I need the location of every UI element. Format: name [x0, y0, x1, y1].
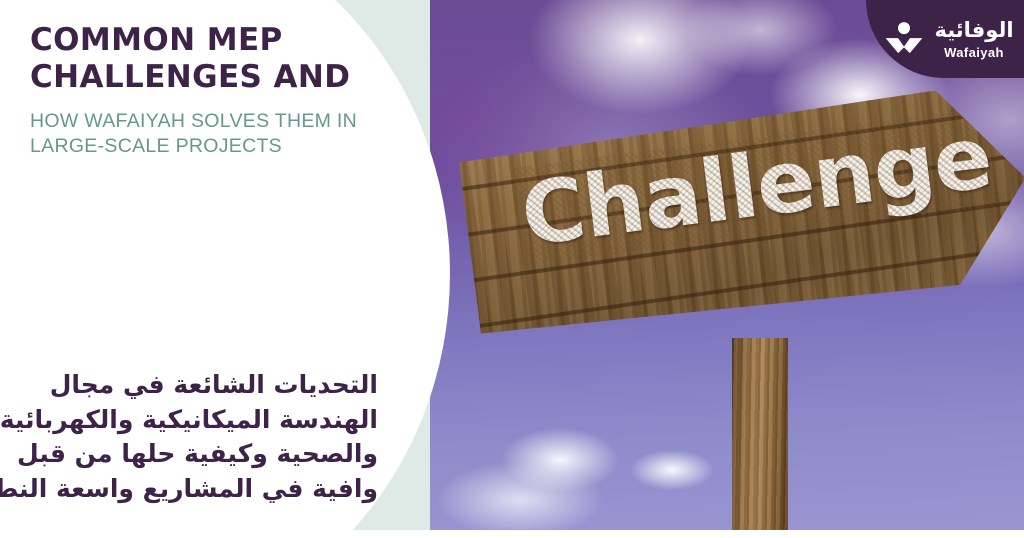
- wafaiyah-figure-icon: [884, 19, 924, 59]
- subhead-line-1: HOW WAFAIYAH SOLVES THEM IN: [30, 110, 357, 132]
- arabic-caption-line: التحديات الشائعة في مجال: [0, 368, 378, 403]
- bottom-white-strip: [0, 530, 1024, 538]
- wooden-post-icon: [732, 338, 788, 530]
- headline-line-2: CHALLENGES AND: [30, 59, 350, 95]
- arabic-caption-line: والصحية وكيفية حلها من قبل: [0, 437, 378, 472]
- arabic-caption: التحديات الشائعة في مجال الهندسة الميكان…: [0, 368, 400, 506]
- banner-root: Challenge COMMON MEP CHALLENGES AND HOW …: [0, 0, 1024, 538]
- logo-english-name: Wafaiyah: [944, 46, 1004, 59]
- page-subtitle: HOW WAFAIYAH SOLVES THEM IN LARGE-SCALE …: [30, 109, 410, 159]
- arabic-caption-line: وافية في المشاريع واسعة النطاق: [0, 472, 378, 507]
- logo-text: الوفائية Wafaiyah: [934, 20, 1013, 59]
- page-title: COMMON MEP CHALLENGES AND: [30, 22, 410, 95]
- subhead-line-2: LARGE-SCALE PROJECTS: [30, 135, 282, 157]
- logo-arabic-name: الوفائية: [934, 20, 1013, 41]
- title-block: COMMON MEP CHALLENGES AND HOW WAFAIYAH S…: [30, 22, 410, 159]
- wooden-sign-group: Challenge: [470, 150, 1024, 380]
- arabic-caption-line: الهندسة الميكانيكية والكهربائية: [0, 403, 378, 438]
- headline-line-1: COMMON MEP: [30, 22, 283, 58]
